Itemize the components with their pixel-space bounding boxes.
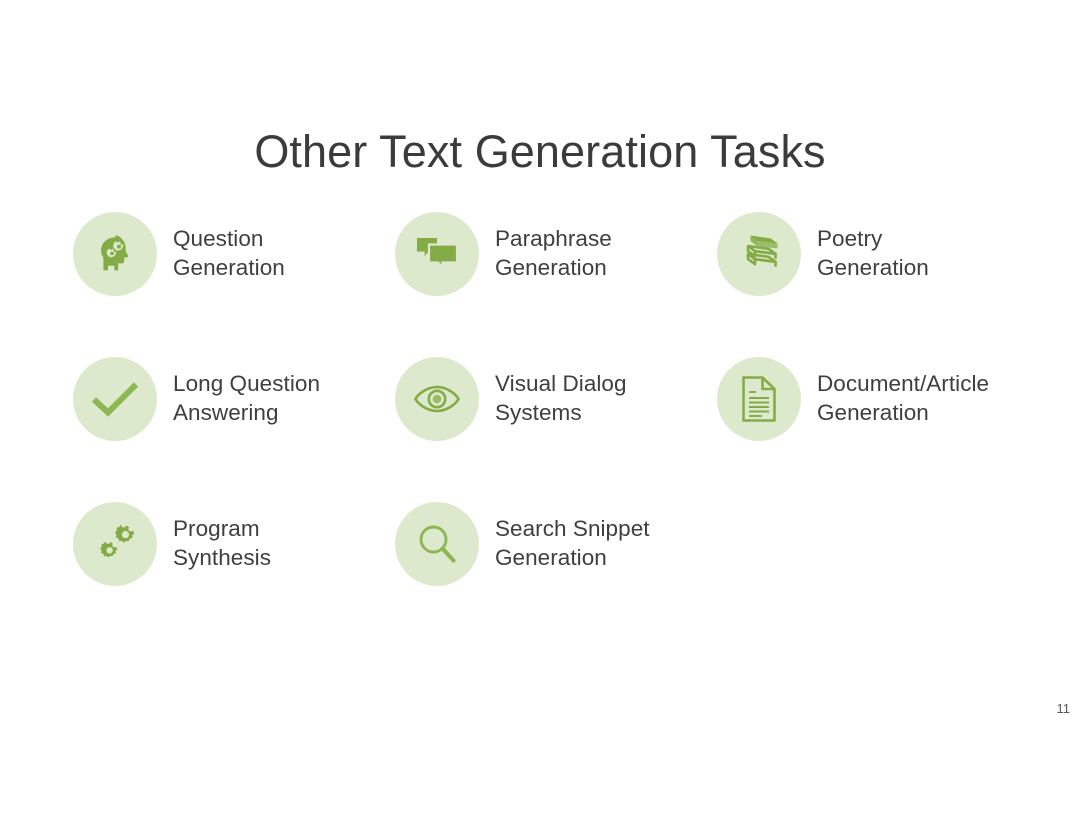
task-item-visual-dialog-systems[interactable]: Visual Dialog Systems: [395, 357, 717, 502]
document-page-icon: [717, 357, 801, 441]
task-row: Long Question Answering Visual Dialog Sy…: [73, 357, 1073, 502]
task-label: Poetry Generation: [817, 212, 929, 283]
task-label: Question Generation: [173, 212, 285, 283]
task-label: Program Synthesis: [173, 502, 271, 573]
task-label: Paraphrase Generation: [495, 212, 612, 283]
task-row: Program Synthesis Search Snippet Generat…: [73, 502, 1073, 647]
head-with-gears-icon: [73, 212, 157, 296]
task-label: Document/Article Generation: [817, 357, 989, 428]
task-label: Visual Dialog Systems: [495, 357, 627, 428]
task-row: Question Generation Paraphrase Generatio…: [73, 212, 1073, 357]
page-title: Other Text Generation Tasks: [0, 128, 1080, 177]
task-item-paraphrase-generation[interactable]: Paraphrase Generation: [395, 212, 717, 357]
eye-icon: [395, 357, 479, 441]
task-item-program-synthesis[interactable]: Program Synthesis: [73, 502, 395, 647]
task-item-question-generation[interactable]: Question Generation: [73, 212, 395, 357]
book-stack-icon: [717, 212, 801, 296]
page-number: 11: [1057, 701, 1071, 716]
task-grid: Question Generation Paraphrase Generatio…: [73, 212, 1073, 647]
checkmark-icon: [73, 357, 157, 441]
task-item-document-article-generation[interactable]: Document/Article Generation: [717, 357, 1039, 502]
task-label: Long Question Answering: [173, 357, 320, 428]
task-item-search-snippet-generation[interactable]: Search Snippet Generation: [395, 502, 717, 647]
slide-canvas: Other Text Generation Tasks Qu: [0, 0, 1080, 830]
speech-bubbles-icon: [395, 212, 479, 296]
task-item-poetry-generation[interactable]: Poetry Generation: [717, 212, 1039, 357]
gears-icon: [73, 502, 157, 586]
magnifier-icon: [395, 502, 479, 586]
task-item-long-question-answering[interactable]: Long Question Answering: [73, 357, 395, 502]
task-label: Search Snippet Generation: [495, 502, 650, 573]
